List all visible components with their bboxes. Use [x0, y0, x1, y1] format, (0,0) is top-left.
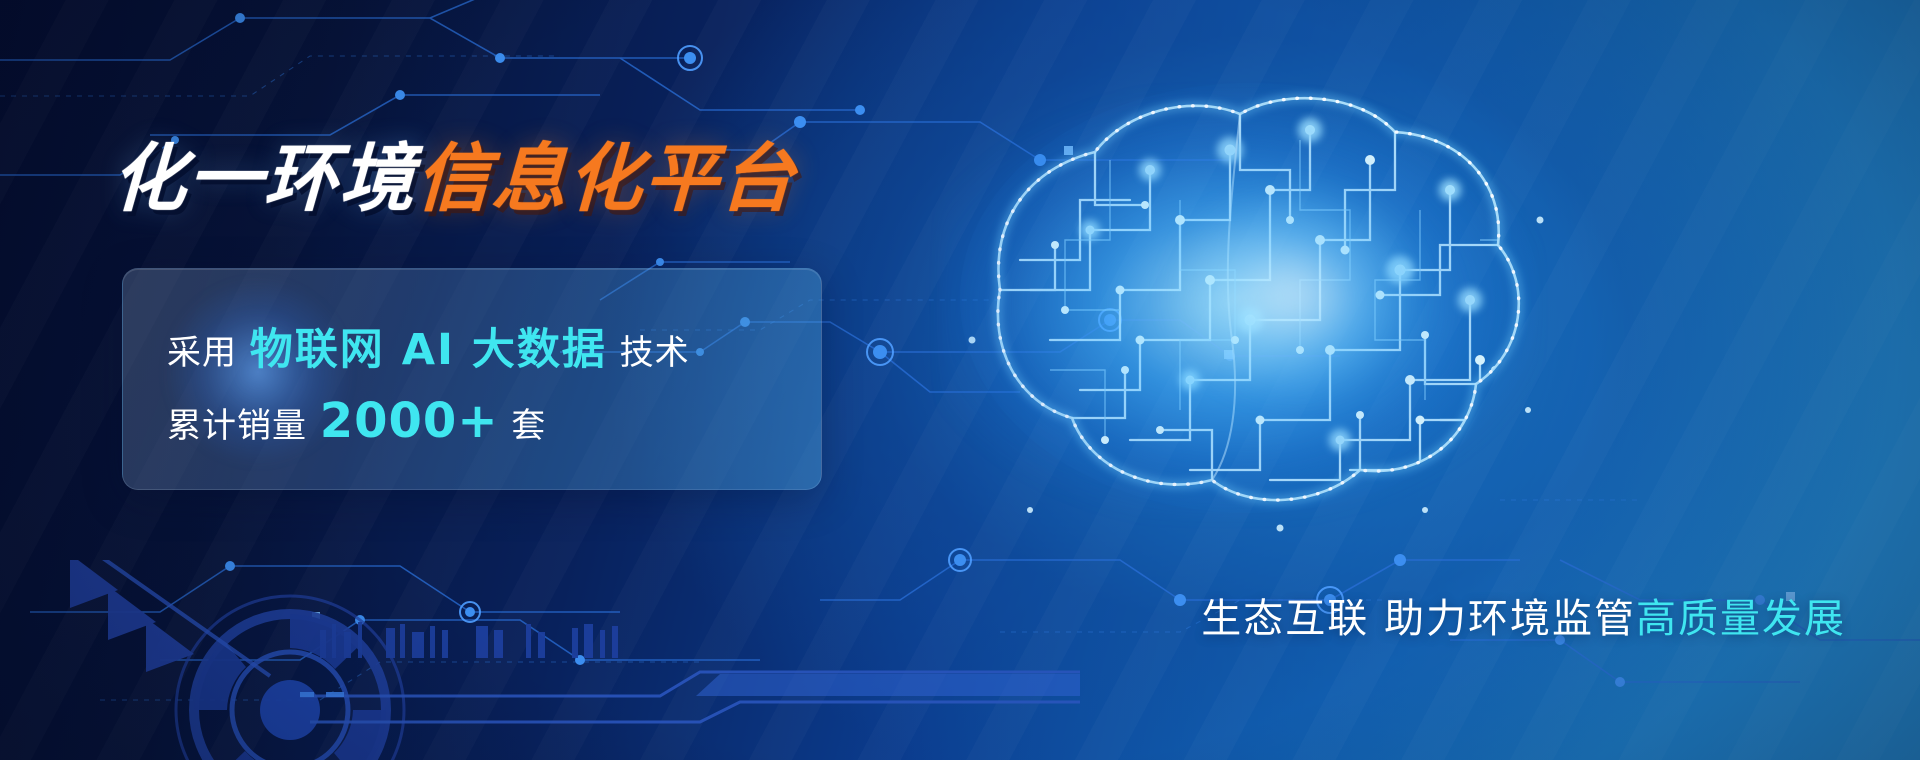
hero-banner: 化一环境信息化平台 采用 物联网 AI 大数据 技术 累计销量 2000+ 套 … [0, 0, 1920, 760]
feature-line-sales: 累计销量 2000+ 套 [167, 393, 546, 449]
title-orange-part: 信息化平台 [414, 136, 797, 222]
brain-core-glow [1170, 190, 1420, 400]
title-white-part: 化一环境 [110, 136, 417, 222]
page-title: 化一环境信息化平台 [111, 142, 798, 216]
ai-brain-circuit-graphic [880, 40, 1600, 560]
feature-suffix: 技术 [620, 333, 690, 373]
tagline: 生态互联 助力环境监管高质量发展 [1201, 586, 1846, 644]
info-card: 采用 物联网 AI 大数据 技术 累计销量 2000+ 套 [122, 268, 822, 490]
hud-radar-decoration [60, 560, 680, 760]
feature-prefix: 采用 [167, 333, 237, 373]
sales-count: 2000+ [320, 393, 499, 449]
sales-prefix: 累计销量 [167, 406, 307, 446]
sales-unit: 套 [511, 406, 546, 446]
tagline-white-part: 生态互联 助力环境监管 [1201, 596, 1636, 642]
feature-highlight: 物联网 AI 大数据 [250, 325, 607, 375]
hud-bar-decoration [300, 610, 1080, 760]
feature-line-technologies: 采用 物联网 AI 大数据 技术 [167, 315, 690, 377]
tagline-cyan-part: 高质量发展 [1636, 596, 1846, 642]
